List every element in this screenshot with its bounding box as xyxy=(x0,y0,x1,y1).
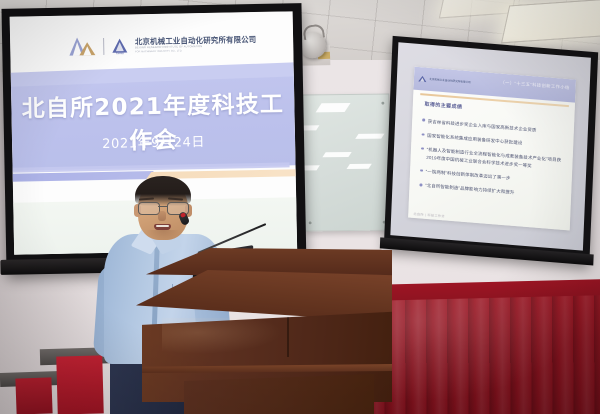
bullet-dot-icon xyxy=(421,147,424,150)
company-name-en-line2: FOR MACHINERY INDUSTRY CO., LTD. xyxy=(135,49,256,54)
slide-header-logo: 北京机械工业自动化研究所有限公司 xyxy=(418,75,471,86)
lectern-highlight xyxy=(162,318,282,354)
company-name-cn: 北京机械工业自动化研究所有限公司 xyxy=(135,36,257,46)
ceiling-light-fixture xyxy=(501,0,600,43)
screen-surface: 北京机械工业自动化研究所有限公司 （一）“十三五”科技创新工作小结 取得的主要成… xyxy=(390,42,591,250)
triangle-logo-icon xyxy=(418,75,427,83)
bullet-dot-icon xyxy=(422,133,425,136)
red-carpet-riser xyxy=(56,355,104,414)
bullet-dot-icon xyxy=(422,119,425,122)
whiteboard-glare xyxy=(355,134,384,140)
bullet-text: 获吉林省科技进步奖企业入库与国家高新技术企业资质 xyxy=(428,118,537,134)
bullet-text: 国家智能化系统集成应用装备研发中心获批建设 xyxy=(427,132,522,147)
lectern-base xyxy=(184,374,374,414)
slide-watermark: 北自所 | 科技工作会 xyxy=(413,211,445,219)
logo-divider xyxy=(103,38,104,55)
red-carpet-riser xyxy=(15,377,52,414)
whiteboard-glare xyxy=(323,152,352,158)
conference-room-photo: 北京机械工业自动化研究所有限公司 （一）“十三五”科技创新工作小结 取得的主要成… xyxy=(0,0,600,414)
slide-bullets: 北京机械工业自动化研究所有限公司 （一）“十三五”科技创新工作小结 取得的主要成… xyxy=(408,67,576,230)
eyeglass-lens-left xyxy=(138,202,160,215)
svg-text:RIAMB: RIAMB xyxy=(116,52,124,55)
presenter-nose xyxy=(158,211,166,221)
projection-screen-right: 北京机械工业自动化研究所有限公司 （一）“十三五”科技创新工作小结 取得的主要成… xyxy=(384,36,598,264)
presenter-chin-shadow xyxy=(146,230,180,240)
lectern xyxy=(136,248,392,414)
bullet-dot-icon xyxy=(420,183,423,186)
whiteboard-glare xyxy=(316,103,351,113)
mountain-logo-icon xyxy=(69,36,96,58)
slide-header-logo-text: 北京机械工业自动化研究所有限公司 xyxy=(429,78,471,85)
slide-subheading: 取得的主要成绩 xyxy=(424,100,462,110)
slide-header-bar: 北京机械工业自动化研究所有限公司 （一）“十三五”科技创新工作小结 xyxy=(414,67,577,103)
slide-header-title: （一）“十三五”科技创新工作小结 xyxy=(500,80,570,92)
logo-text-block: 北京机械工业自动化研究所有限公司 BEIJING RESEARCH INSTIT… xyxy=(135,36,257,53)
eyeglass-bridge xyxy=(158,206,167,207)
draped-table xyxy=(368,279,600,414)
whiteboard-mount xyxy=(309,221,312,224)
slide-bullet-list: 获吉林省科技进步奖企业入库与国家高新技术企业资质 国家智能化系统集成应用装备研发… xyxy=(419,117,568,207)
glass-whiteboard xyxy=(302,94,390,232)
triangle-logo-icon: RIAMB xyxy=(111,38,128,55)
drape-skirt xyxy=(363,295,600,414)
bullet-dot-icon xyxy=(420,169,423,172)
bullet-text: “北自所智能制造”品牌影响力持续扩大和提升 xyxy=(425,182,515,197)
whiteboard-glare xyxy=(346,164,372,170)
bullet-text: “一院两制”科技创新体制改革迈出了第一步 xyxy=(426,168,511,183)
whiteboard-mount xyxy=(382,101,385,104)
